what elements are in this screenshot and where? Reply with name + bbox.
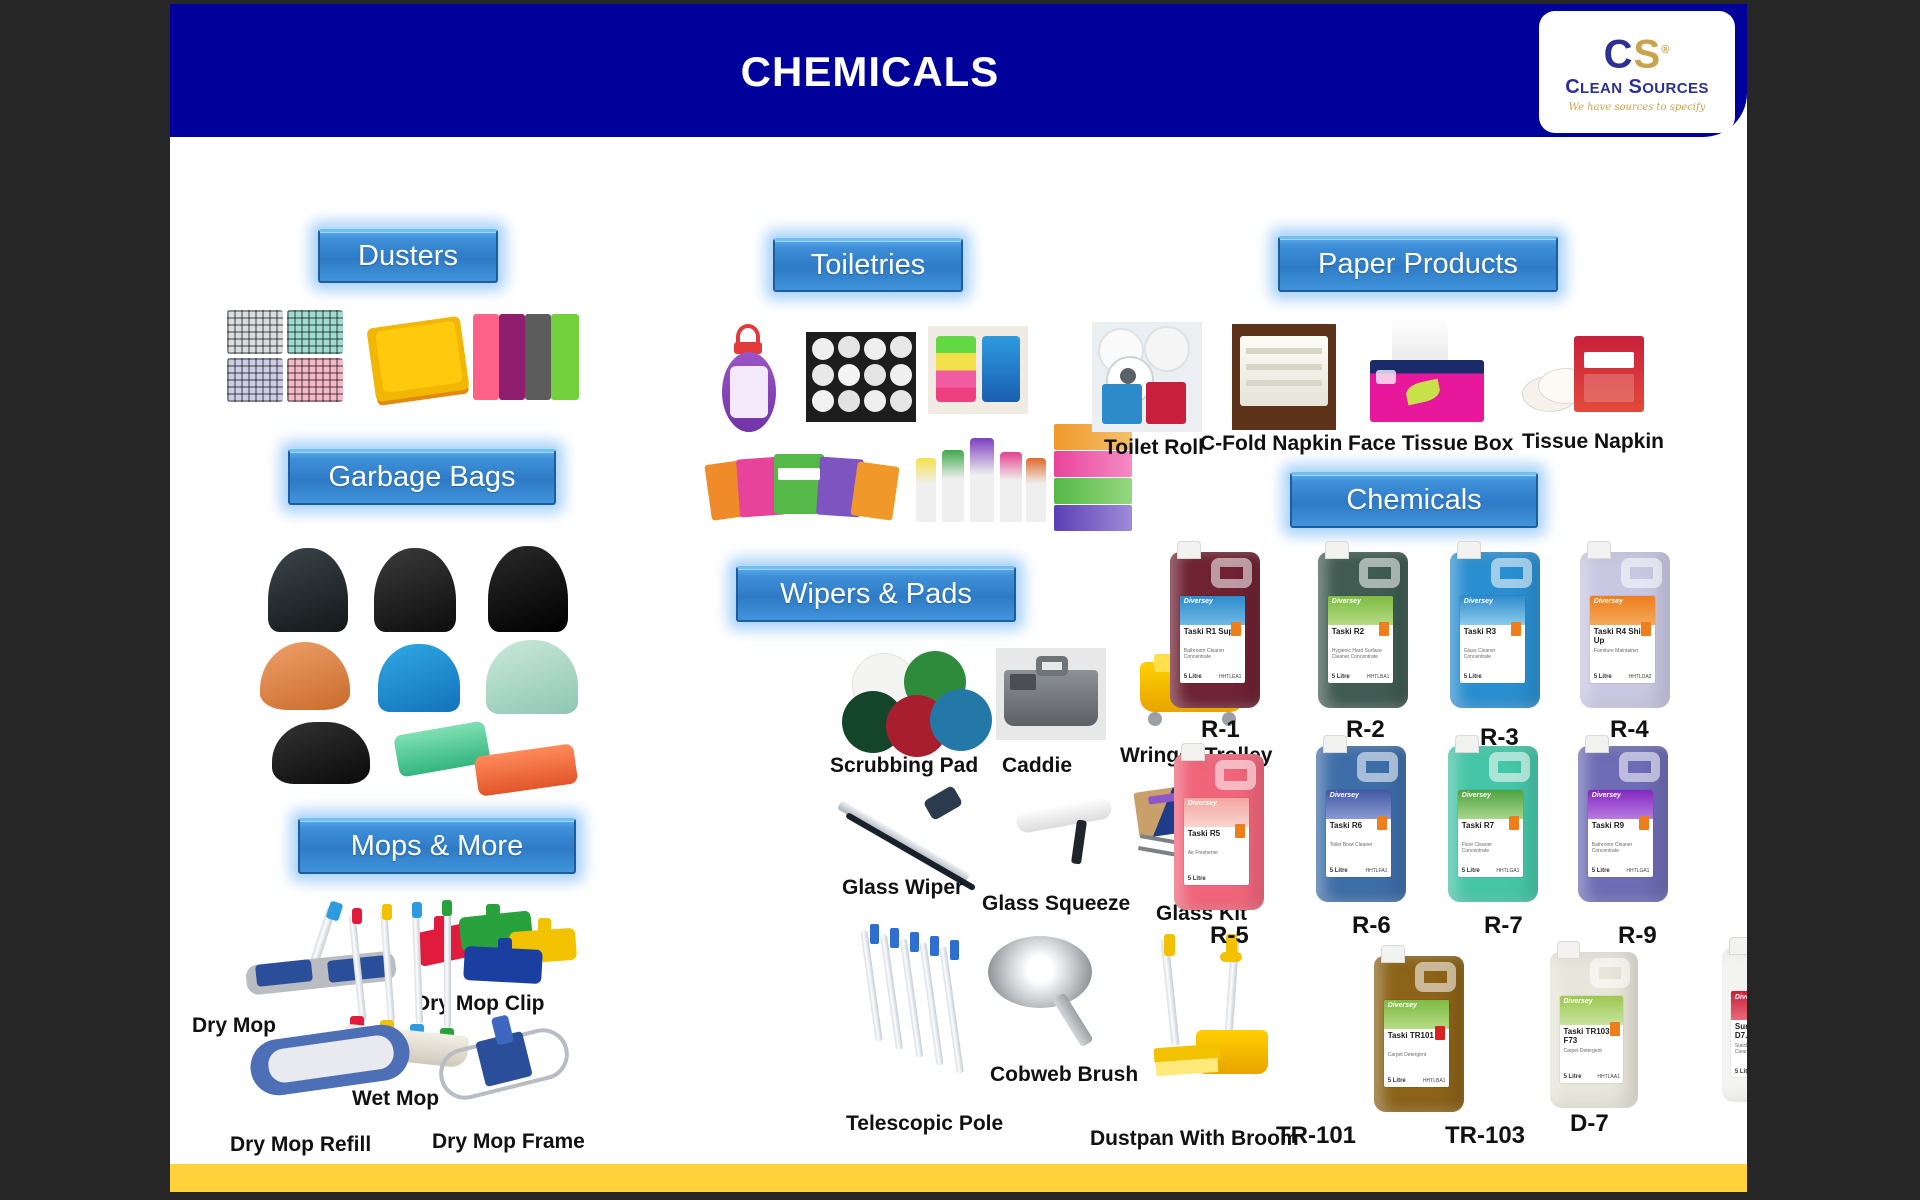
bottle-label: Diversey Taski R4 Shine Up Furniture Mai… (1590, 596, 1655, 683)
section-header-wipers-pads-label: Wipers & Pads (780, 578, 972, 611)
label-chemical-r5: R-5 (1210, 922, 1249, 950)
label-face-tissue-box: Face Tissue Box (1348, 432, 1513, 456)
section-header-chemicals: Chemicals (1290, 472, 1538, 528)
image-glass-wiper (842, 794, 1002, 884)
bottle-cap-icon (1585, 735, 1609, 753)
image-toilet-freshener (710, 324, 790, 439)
label-chemical-d7: D-7 (1570, 1110, 1609, 1138)
chemical-bottle-r2: Diversey Taski R2 Hygienic Hard Surface … (1318, 552, 1408, 708)
image-dustpan-with-broom (1150, 934, 1280, 1094)
bottle-handle-icon (1619, 752, 1660, 782)
image-tissue-napkin (1522, 330, 1644, 426)
bottle-handle-icon (1491, 558, 1532, 588)
image-dusters (225, 304, 600, 419)
logo-letter-s: S (1634, 33, 1662, 77)
image-room-spray-cans (912, 428, 1052, 528)
slide-title-bar: CHEMICALS (170, 4, 1747, 137)
image-odonil-blocks (708, 436, 908, 526)
bottle-label: Diversey Taski R5 Air Freshener 5 Litre (1184, 798, 1249, 885)
slide-footer-bar (170, 1164, 1747, 1192)
image-toilet-roll (1092, 322, 1202, 432)
image-naphthalene-balls (806, 332, 916, 422)
bottle-handle-icon (1489, 752, 1530, 782)
bottle-label: Diversey Taski R3 Glass Cleaner Concentr… (1460, 596, 1525, 683)
image-face-tissue-box (1366, 316, 1488, 428)
bottle-handle-icon (1211, 558, 1252, 588)
label-tissue-napkin: Tissue Napkin (1522, 430, 1664, 454)
logo-company-name: CLEAN SOURCES (1565, 76, 1709, 99)
bottle-label: Diversey Taski TR101 Carpet Detergent 5 … (1384, 1000, 1449, 1087)
bottle-cap-icon (1181, 743, 1205, 761)
image-glass-squeeze (1016, 794, 1126, 882)
label-chemical-r2: R-2 (1346, 716, 1385, 744)
image-garbage-bags (250, 542, 680, 792)
section-header-paper-products-label: Paper Products (1318, 248, 1518, 281)
slide-canvas: CHEMICALS CS® CLEAN SOURCES We have sour… (170, 4, 1747, 1192)
company-logo: CS® CLEAN SOURCES We have sources to spe… (1541, 13, 1733, 131)
bottle-label: Diversey Taski TR103 F73 Carpet Detergen… (1560, 996, 1623, 1083)
chemical-bottle-r1: Diversey Taski R1 Super Bathroom Cleaner… (1170, 552, 1260, 708)
chemical-bottle-r5: Diversey Taski R5 Air Freshener 5 Litre (1174, 754, 1264, 910)
chemical-bottle-r9: Diversey Taski R9 Bathroom Cleaner Conce… (1578, 746, 1668, 902)
section-header-toiletries-label: Toiletries (811, 249, 925, 282)
chemical-bottle-r6: Diversey Taski R6 Toilet Bowl Cleaner 5 … (1316, 746, 1406, 902)
chemical-bottle-r7: Diversey Taski R7 Floor Cleaner Concentr… (1448, 746, 1538, 902)
bottle-cap-icon (1325, 541, 1349, 559)
image-scrub-sponges (928, 326, 1028, 414)
section-header-garbage-bags-label: Garbage Bags (328, 461, 515, 494)
section-header-dusters-label: Dusters (358, 240, 458, 273)
page-title: CHEMICALS (170, 48, 1570, 96)
bottle-cap-icon (1455, 735, 1479, 753)
image-dry-mop-frame (432, 1014, 592, 1114)
chemical-bottle-tr101: Diversey Taski TR101 Carpet Detergent 5 … (1374, 956, 1464, 1112)
bottle-cap-icon (1323, 735, 1347, 753)
bottle-handle-icon (1415, 962, 1456, 992)
logo-letter-c: C (1604, 33, 1634, 77)
label-chemical-r4: R-4 (1610, 716, 1649, 744)
label-chemical-r6: R-6 (1352, 912, 1391, 940)
label-cobweb-brush: Cobweb Brush (990, 1063, 1138, 1087)
logo-tagline: We have sources to specify (1569, 102, 1706, 113)
image-telescopic-pole (860, 924, 980, 1094)
label-caddie: Caddie (1002, 754, 1072, 778)
section-header-wipers-pads: Wipers & Pads (736, 566, 1016, 622)
label-c-fold-napkin: C-Fold Napkin (1200, 432, 1342, 456)
section-header-chemicals-label: Chemicals (1346, 484, 1481, 517)
label-glass-squeeze: Glass Squeeze (982, 892, 1130, 916)
label-chemical-r7: R-7 (1484, 912, 1523, 940)
bottle-label: Diversey Taski R7 Floor Cleaner Concentr… (1458, 790, 1523, 877)
label-chemical-tr101: TR-101 (1276, 1122, 1356, 1150)
section-header-dusters: Dusters (318, 229, 498, 283)
bottle-cap-icon (1381, 945, 1405, 963)
bottle-label: Diversey Taski R9 Bathroom Cleaner Conce… (1588, 790, 1653, 877)
bottle-label: Diversey Taski R1 Super Bathroom Cleaner… (1180, 596, 1245, 683)
image-dry-mop-refill (246, 1022, 422, 1104)
label-glass-wiper: Glass Wiper (842, 876, 963, 900)
image-cobweb-brush (980, 934, 1130, 1044)
image-caddie (996, 648, 1106, 740)
bottle-handle-icon (1590, 958, 1630, 988)
logo-mark: CS® (1604, 31, 1671, 73)
label-dustpan-with-broom: Dustpan With Broom (1090, 1127, 1299, 1151)
bottle-handle-icon (1215, 760, 1256, 790)
image-scrubbing-pad (842, 649, 992, 754)
bottle-cap-icon (1457, 541, 1481, 559)
section-header-toiletries: Toiletries (773, 238, 963, 292)
bottle-label: Diversey Taski R6 Toilet Bowl Cleaner 5 … (1326, 790, 1391, 877)
label-scrubbing-pad: Scrubbing Pad (830, 754, 978, 778)
chemical-bottle-d7: Diversey Suma Inox D7.1 Stainless Steel … (1722, 948, 1747, 1102)
chemical-bottle-r3: Diversey Taski R3 Glass Cleaner Concentr… (1450, 552, 1540, 708)
image-c-fold-napkin (1232, 324, 1336, 430)
bottle-label: Diversey Taski R2 Hygienic Hard Surface … (1328, 596, 1393, 683)
bottle-cap-icon (1557, 941, 1580, 959)
label-telescopic-pole: Telescopic Pole (846, 1112, 1003, 1136)
label-chemical-tr103: TR-103 (1445, 1122, 1525, 1150)
section-header-mops-more: Mops & More (298, 818, 576, 874)
bottle-handle-icon (1359, 558, 1400, 588)
bottle-cap-icon (1177, 541, 1201, 559)
bottle-label: Diversey Suma Inox D7.1 Stainless Steel … (1731, 991, 1747, 1077)
chemical-bottle-tr103: Diversey Taski TR103 F73 Carpet Detergen… (1550, 952, 1638, 1108)
bottle-handle-icon (1357, 752, 1398, 782)
section-header-mops-more-label: Mops & More (351, 830, 523, 863)
bottle-cap-icon (1587, 541, 1611, 559)
bottle-handle-icon (1621, 558, 1662, 588)
section-header-paper-products: Paper Products (1278, 236, 1558, 292)
label-toilet-roll: Toilet Roll (1104, 436, 1204, 460)
section-header-garbage-bags: Garbage Bags (288, 449, 556, 505)
bottle-cap-icon (1729, 937, 1747, 955)
label-chemical-r1: R-1 (1201, 716, 1240, 744)
label-chemical-r9: R-9 (1618, 922, 1657, 950)
label-dry-mop-frame: Dry Mop Frame (432, 1130, 585, 1154)
chemical-bottle-r4: Diversey Taski R4 Shine Up Furniture Mai… (1580, 552, 1670, 708)
label-dry-mop-refill: Dry Mop Refill (230, 1133, 371, 1157)
registered-trademark-icon: ® (1661, 44, 1670, 56)
